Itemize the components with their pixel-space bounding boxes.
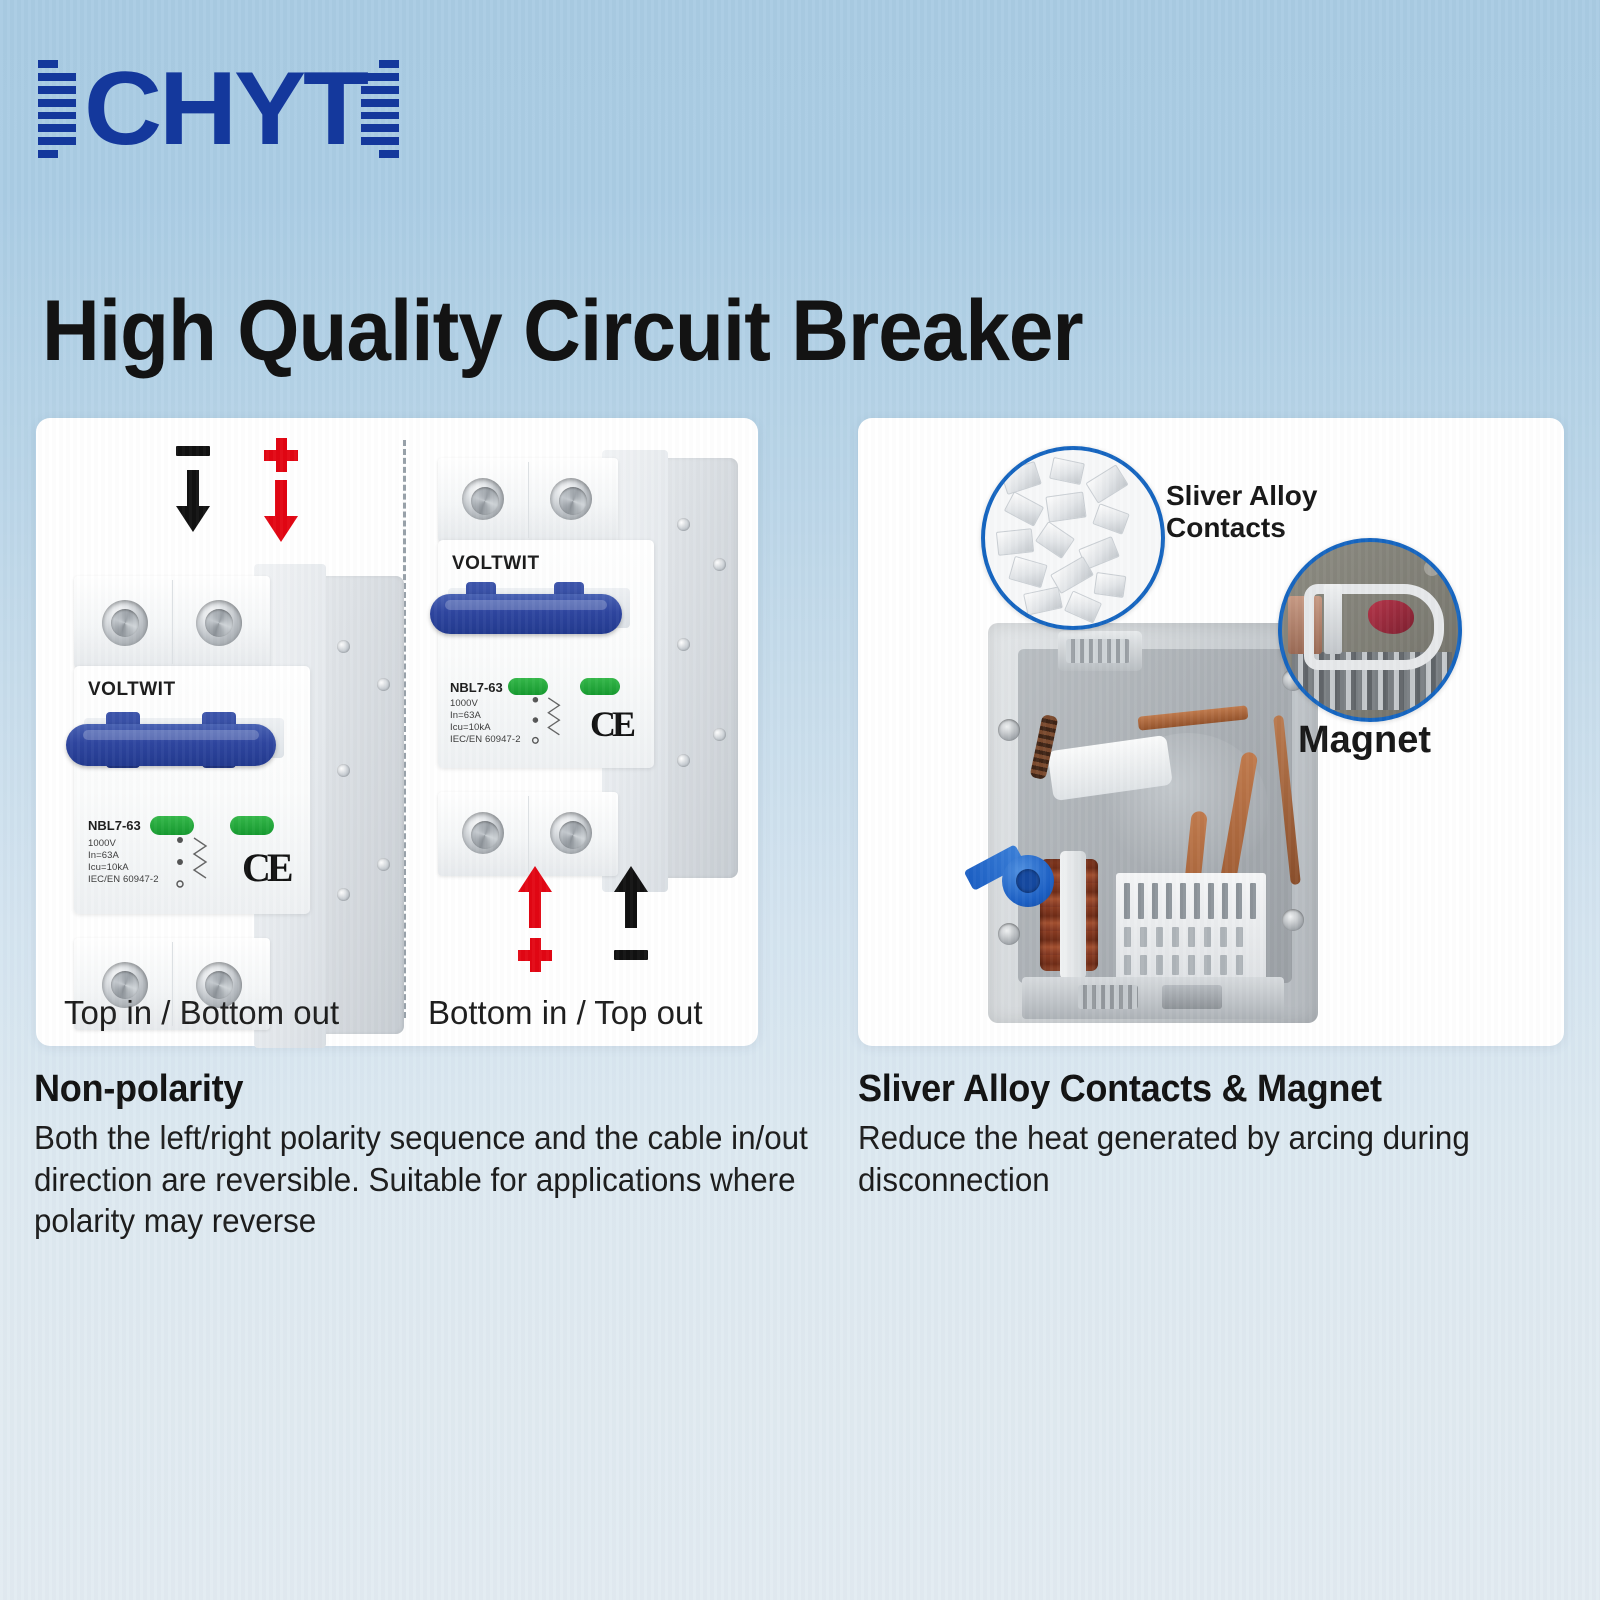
cutaway-arc-chute	[1116, 873, 1266, 981]
device-model-label: NBL7-63	[88, 818, 141, 834]
status-indicator-green	[508, 678, 548, 695]
feature-contacts-magnet: Sliver Alloy Contacts & Magnet Reduce th…	[858, 1068, 1558, 1200]
side-rivet	[677, 518, 690, 531]
callout-contacts-line2: Contacts	[1166, 512, 1317, 544]
side-rivet	[337, 764, 350, 777]
indicator-positive-top	[264, 438, 298, 542]
device-spec-lines: 1000V In=63A Icu=10kA IEC/EN 60947-2	[88, 838, 159, 886]
ce-mark-icon: CE	[242, 848, 290, 888]
side-rivet	[337, 888, 350, 901]
breaker-device-bottom-in: VOLTWIT NBL7-63 1000V In=63A Icu=10kA IE…	[438, 448, 738, 918]
cutaway-din-foot	[1022, 977, 1284, 1019]
minus-sign-icon	[176, 446, 210, 456]
device-brand-label: VOLTWIT	[452, 553, 540, 575]
callout-magnet-label: Magnet	[1298, 718, 1431, 762]
plus-sign-icon	[518, 938, 552, 972]
poster-root: CHYT High Quality Circuit Breaker	[0, 0, 1600, 1600]
status-indicator-green	[580, 678, 620, 695]
feature-body: Both the left/right polarity sequence an…	[34, 1117, 823, 1242]
circuit-symbol-icon	[528, 694, 576, 748]
caption-bottom-in-top-out: Bottom in / Top out	[428, 994, 703, 1032]
side-rivet	[677, 754, 690, 767]
status-indicator-green	[150, 816, 194, 835]
breaker-lever[interactable]	[430, 594, 622, 634]
terminal-screw	[102, 600, 148, 646]
callout-contacts-line1: Sliver Alloy	[1166, 480, 1317, 512]
status-indicator-green	[230, 816, 274, 835]
side-rivet	[713, 558, 726, 571]
device-spec-lines: 1000V In=63A Icu=10kA IEC/EN 60947-2	[450, 698, 521, 746]
circuit-symbol-icon	[172, 834, 224, 892]
non-polarity-card: VOLTWIT NBL7-63 1000V In=63A Icu=10kA IE…	[36, 418, 758, 1046]
callout-contacts-label: Sliver Alloy Contacts	[1166, 480, 1317, 545]
cutaway-blue-knob	[962, 843, 1054, 909]
feature-title: Sliver Alloy Contacts & Magnet	[858, 1068, 1523, 1111]
indicator-negative-top	[176, 446, 210, 532]
side-rivet	[337, 640, 350, 653]
callout-magnet	[1278, 538, 1462, 722]
device-body: VOLTWIT NBL7-63 1000V In=63A Icu=10kA IE…	[438, 540, 654, 768]
logo-bars-left-icon	[38, 60, 78, 158]
plus-sign-icon	[264, 438, 298, 472]
side-rivet	[377, 678, 390, 691]
cutaway-solenoid-core	[1060, 851, 1086, 979]
terminal-screw	[196, 600, 242, 646]
device-body: VOLTWIT NBL7-63 1000V In=63A Icu=10kA IE…	[74, 666, 310, 914]
breaker-lever[interactable]	[66, 724, 276, 766]
arrow-down-red-icon	[264, 480, 298, 542]
terminal-block-top	[438, 458, 618, 542]
arrow-down-black-icon	[176, 470, 210, 532]
side-rivet	[713, 728, 726, 741]
indicator-positive-bottom	[518, 866, 552, 972]
terminal-screw	[462, 812, 504, 854]
feature-non-polarity: Non-polarity Both the left/right polarit…	[34, 1068, 864, 1242]
feature-title: Non-polarity	[34, 1068, 823, 1111]
breaker-cutaway-photo	[988, 623, 1318, 1023]
device-brand-label: VOLTWIT	[88, 679, 176, 701]
terminal-screw	[550, 812, 592, 854]
arrow-up-red-icon	[518, 866, 552, 928]
case-mount-hole	[998, 923, 1020, 945]
contacts-magnet-card: Sliver Alloy Contacts Magnet	[858, 418, 1564, 1046]
minus-sign-icon	[614, 950, 648, 960]
cutaway-top-terminal	[1058, 631, 1142, 671]
logo-wordmark: CHYT	[84, 57, 366, 161]
case-mount-hole	[998, 719, 1020, 741]
arrow-up-black-icon	[614, 866, 648, 928]
case-mount-hole	[1282, 909, 1304, 931]
callout-silver-alloy-contacts	[981, 446, 1165, 630]
page-title: High Quality Circuit Breaker	[42, 288, 1083, 374]
terminal-block-bottom	[438, 792, 618, 876]
side-rivet	[377, 858, 390, 871]
breaker-device-top-in: VOLTWIT NBL7-63 1000V In=63A Icu=10kA IE…	[74, 558, 404, 1058]
terminal-screw	[550, 478, 592, 520]
indicator-negative-bottom	[614, 866, 648, 960]
terminal-screw	[462, 478, 504, 520]
ce-mark-icon: CE	[590, 706, 632, 742]
terminal-block-top	[74, 576, 270, 668]
brand-logo: CHYT	[38, 55, 399, 163]
device-model-label: NBL7-63	[450, 680, 503, 696]
caption-top-in-bottom-out: Top in / Bottom out	[64, 994, 339, 1032]
feature-body: Reduce the heat generated by arcing duri…	[858, 1117, 1523, 1200]
side-rivet	[677, 638, 690, 651]
